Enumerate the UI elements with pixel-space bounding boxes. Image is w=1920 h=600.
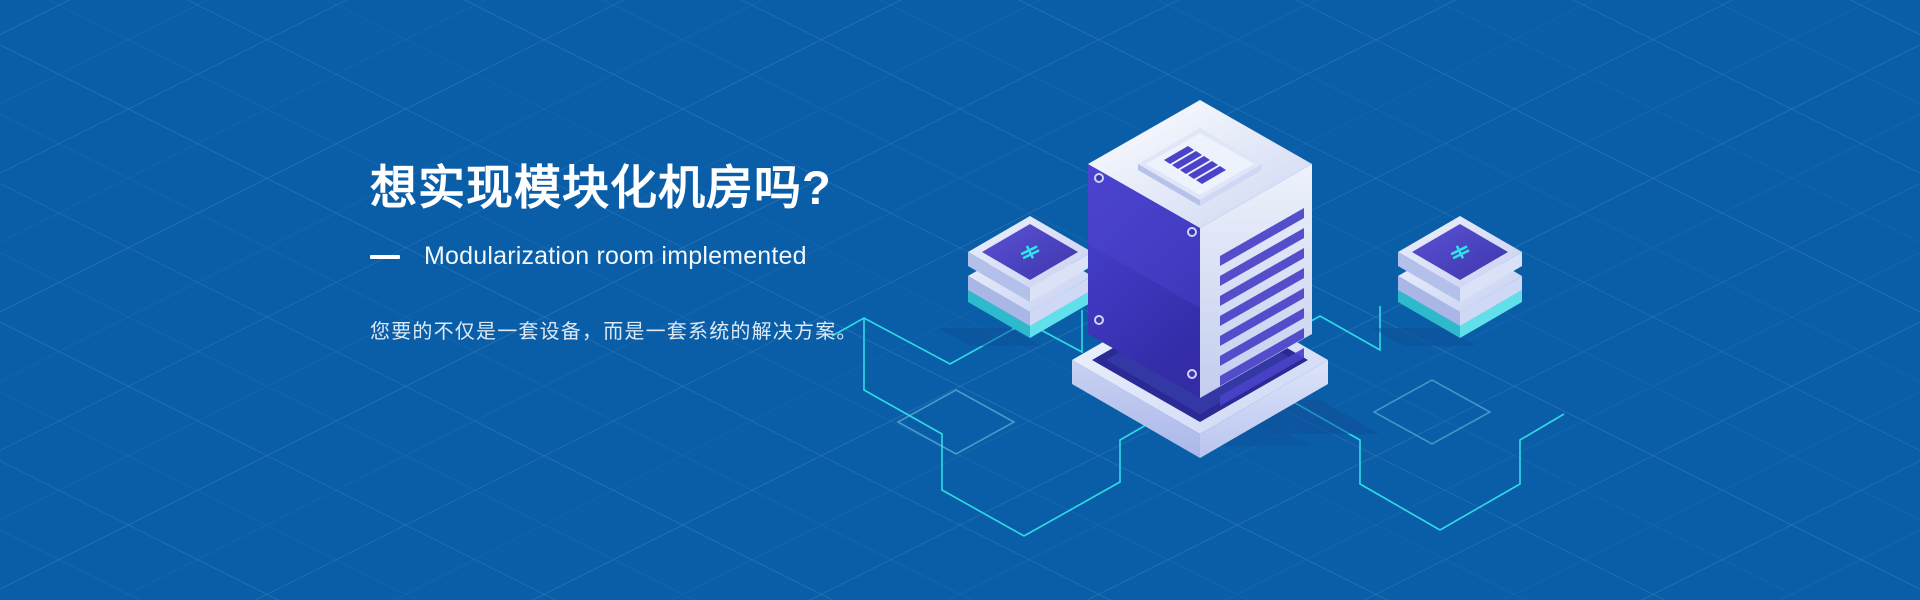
banner-body-text: 您要的不仅是一套设备，而是一套系统的解决方案。: [370, 316, 1070, 348]
page-title: 想实现模块化机房吗?: [370, 160, 1070, 215]
banner-subtitle: Modularization room implemented: [424, 242, 807, 271]
banner-copy: 想实现模块化机房吗? Modularization room implement…: [370, 160, 1070, 348]
subtitle-row: Modularization room implemented: [370, 242, 1070, 271]
hero-banner: 想实现模块化机房吗? Modularization room implement…: [0, 0, 1920, 600]
chip-module-right: [1398, 216, 1522, 338]
dash-accent-icon: [370, 255, 400, 259]
